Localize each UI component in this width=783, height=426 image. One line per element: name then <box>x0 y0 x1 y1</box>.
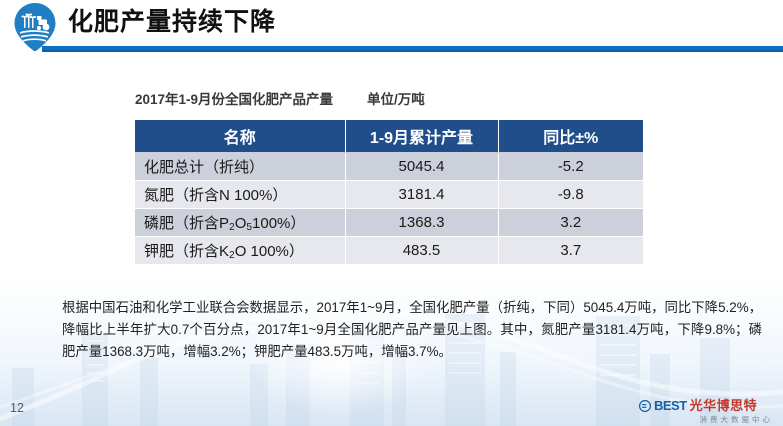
fertilizer-output-table: 名称 1-9月累计产量 同比±% 化肥总计（折纯） 5045.4 -5.2 氮肥… <box>135 120 643 265</box>
cell-output: 483.5 <box>345 237 498 265</box>
column-header-name: 名称 <box>135 120 345 153</box>
slide-header: 化肥产量持续下降 <box>0 0 783 54</box>
cell-name-part: O <box>235 243 247 260</box>
cell-name-part: 磷肥（折含P <box>144 215 229 232</box>
cell-name: 氮肥（折含N 100%） <box>135 181 345 209</box>
cell-name-part: 钾肥（折含K <box>144 243 229 260</box>
page-title: 化肥产量持续下降 <box>68 6 276 38</box>
cell-name-part: 100%） <box>252 215 305 232</box>
table-caption-text: 2017年1-9月份全国化肥产品产量 <box>135 92 333 107</box>
brand-tagline: 消费大数据中心 <box>639 414 775 425</box>
brand-mark-text: BEST <box>654 399 687 412</box>
table-row: 氮肥（折含N 100%） 3181.4 -9.8 <box>135 181 643 209</box>
cell-name: 化肥总计（折纯） <box>135 153 345 181</box>
page-number: 12 <box>10 401 24 415</box>
cell-name: 钾肥（折含K2O 100%） <box>135 237 345 265</box>
column-header-output: 1-9月累计产量 <box>345 120 498 153</box>
table-row: 化肥总计（折纯） 5045.4 -5.2 <box>135 153 643 181</box>
header-accent-rule-shadow <box>42 50 783 52</box>
cell-name-part: 100%） <box>246 243 304 260</box>
table-row: 磷肥（折含P2O5100%） 1368.3 3.2 <box>135 209 643 237</box>
cell-name-part: O <box>235 215 247 232</box>
brand-circle-icon <box>639 400 651 412</box>
brand-logo: BEST 光华博思特 消费大数据中心 <box>639 398 775 424</box>
cell-yoy: -9.8 <box>498 181 643 209</box>
cell-output: 1368.3 <box>345 209 498 237</box>
table-header-row: 名称 1-9月累计产量 同比±% <box>135 120 643 153</box>
cell-output: 5045.4 <box>345 153 498 181</box>
cell-yoy: 3.2 <box>498 209 643 237</box>
table-caption: 2017年1-9月份全国化肥产品产量单位/万吨 <box>135 88 645 108</box>
cell-yoy: 3.7 <box>498 237 643 265</box>
cell-output: 3181.4 <box>345 181 498 209</box>
table-unit-label: 单位/万吨 <box>367 92 425 107</box>
brand-name-cn: 光华博思特 <box>690 399 758 412</box>
brand-logo-top: BEST 光华博思特 <box>639 398 775 413</box>
slide-root: 化肥产量持续下降 2017年1-9月份全国化肥产品产量单位/万吨 名称 1-9月… <box>0 0 783 426</box>
column-header-yoy: 同比±% <box>498 120 643 153</box>
cell-name: 磷肥（折含P2O5100%） <box>135 209 345 237</box>
table-row: 钾肥（折含K2O 100%） 483.5 3.7 <box>135 237 643 265</box>
cell-yoy: -5.2 <box>498 153 643 181</box>
body-paragraph: 根据中国石油和化学工业联合会数据显示，2017年1~9月，全国化肥产量（折纯，下… <box>62 297 762 363</box>
farm-location-pin-icon <box>12 2 58 52</box>
